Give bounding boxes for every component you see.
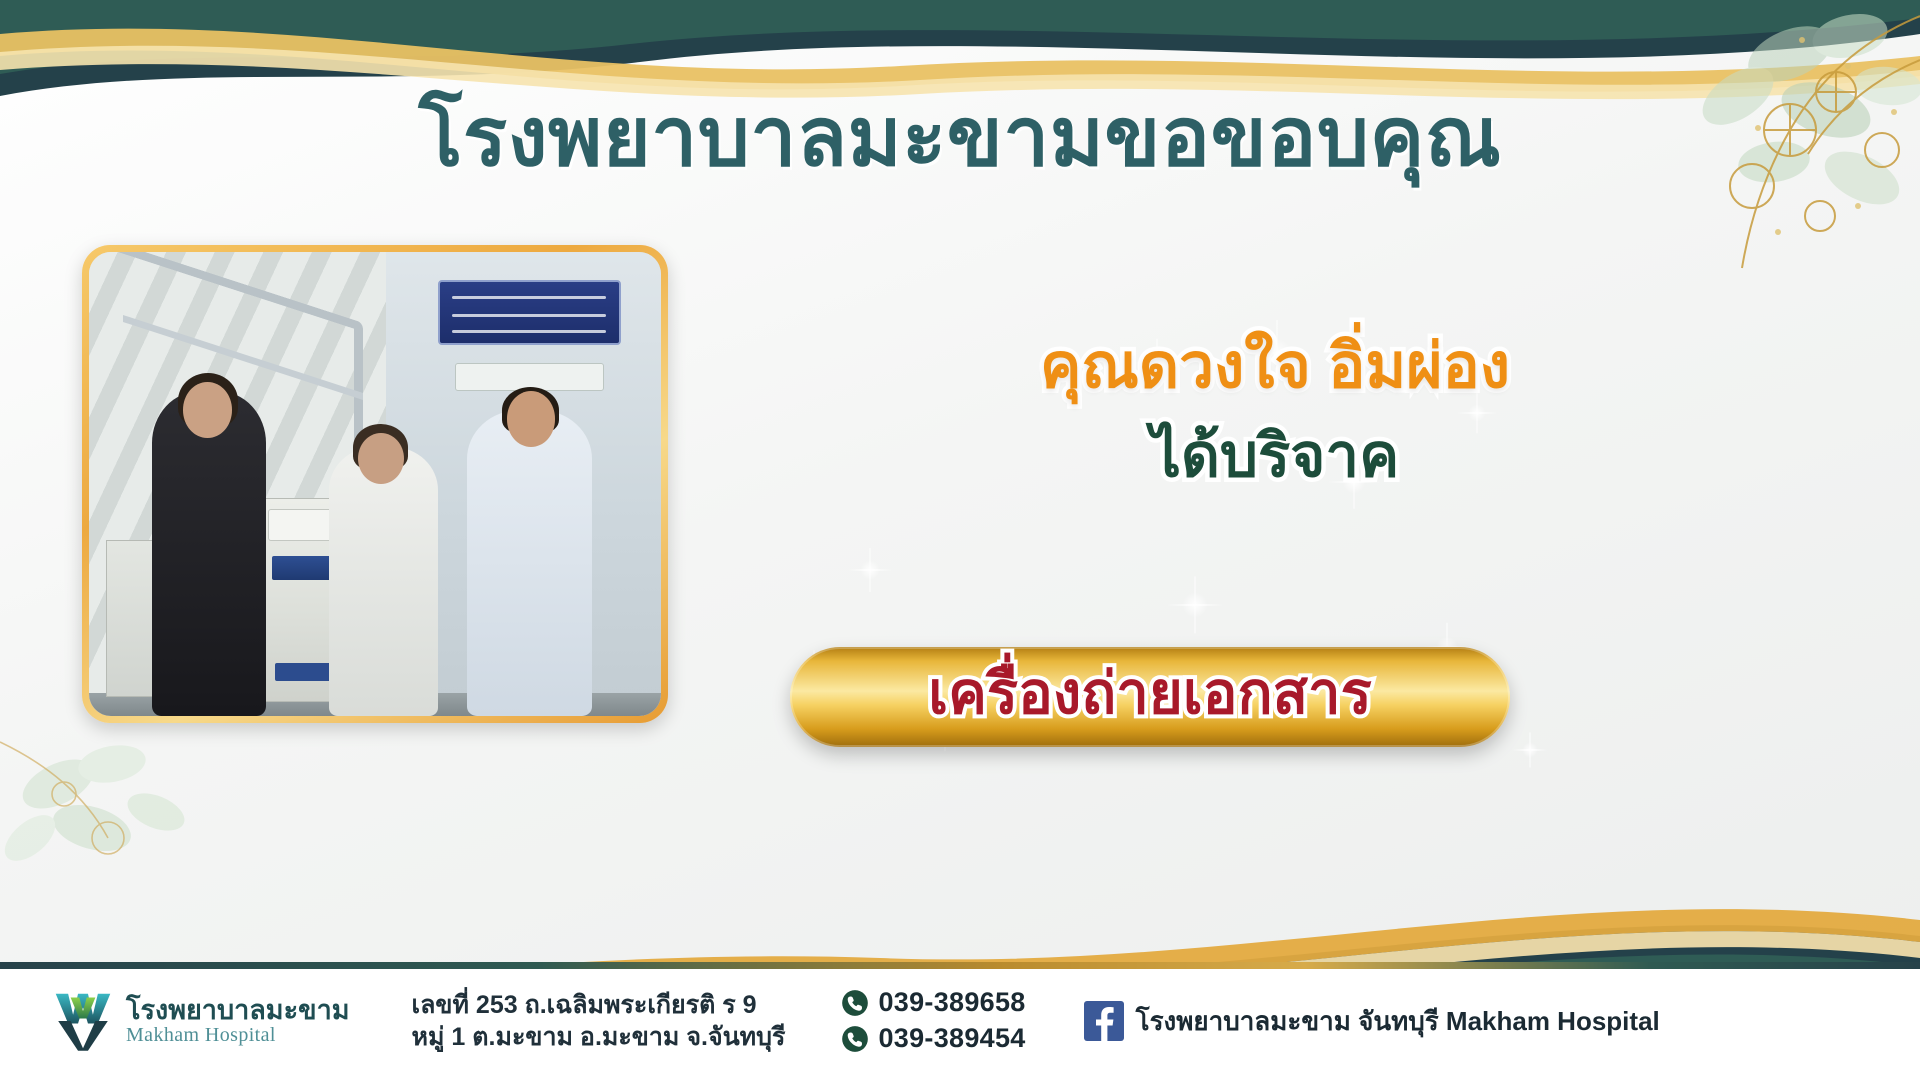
footer-phone-row: 039-389454 xyxy=(841,1023,1025,1055)
donated-item-badge: เครื่องถ่ายเอกสาร xyxy=(790,647,1510,747)
thank-you-banner: โรงพยาบาลมะขามขอขอบคุณ คุณดวงใจ อิ่มผ่อง xyxy=(0,0,1920,1080)
phone-icon xyxy=(841,1025,869,1053)
hospital-logo-block: โรงพยาบาลมะขาม Makham Hospital xyxy=(52,990,350,1052)
makham-hospital-logo-icon xyxy=(52,990,114,1052)
footer-phone-number[interactable]: 039-389454 xyxy=(878,1023,1025,1055)
donor-name: คุณดวงใจ อิ่มผ่อง xyxy=(700,330,1850,403)
footer-address: เลขที่ 253 ถ.เฉลิมพระเกียรติ ร 9 หมู่ 1 … xyxy=(412,989,786,1053)
wayfinding-sign xyxy=(438,280,621,345)
donation-photo xyxy=(89,252,661,716)
person-staff-right xyxy=(467,410,593,716)
footer-phone-number[interactable]: 039-389658 xyxy=(878,987,1025,1019)
footer-hospital-name-en: Makham Hospital xyxy=(126,1025,350,1046)
donation-verb: ได้บริจาค xyxy=(700,421,1850,492)
page-title: โรงพยาบาลมะขามขอขอบคุณ xyxy=(0,72,1920,202)
footer-phone-list: 039-389658 039-389454 xyxy=(841,987,1025,1055)
footer-facebook-block[interactable]: โรงพยาบาลมะขาม จันทบุรี Makham Hospital xyxy=(1084,1001,1660,1042)
footer-divider xyxy=(0,962,1920,969)
footer-phone-row: 039-389658 xyxy=(841,987,1025,1019)
footer-hospital-name-th: โรงพยาบาลมะขาม xyxy=(126,996,350,1024)
phone-icon xyxy=(841,989,869,1017)
person-donor-center xyxy=(329,447,438,716)
person-staff-left xyxy=(152,391,266,716)
facebook-icon[interactable] xyxy=(1084,1001,1124,1041)
footer-address-line-2: หมู่ 1 ต.มะขาม อ.มะขาม จ.จันทบุรี xyxy=(412,1021,786,1053)
donation-message: คุณดวงใจ อิ่มผ่อง ได้บริจาค xyxy=(700,330,1850,492)
footer-bar: โรงพยาบาลมะขาม Makham Hospital เลขที่ 25… xyxy=(0,962,1920,1080)
botanical-leaf-decoration-bottom xyxy=(0,720,300,910)
donated-item-label: เครื่องถ่ายเอกสาร xyxy=(928,665,1372,729)
footer-address-line-1: เลขที่ 253 ถ.เฉลิมพระเกียรติ ร 9 xyxy=(412,989,786,1021)
footer-facebook-label[interactable]: โรงพยาบาลมะขาม จันทบุรี Makham Hospital xyxy=(1136,1001,1660,1042)
donation-photo-card xyxy=(82,245,668,723)
